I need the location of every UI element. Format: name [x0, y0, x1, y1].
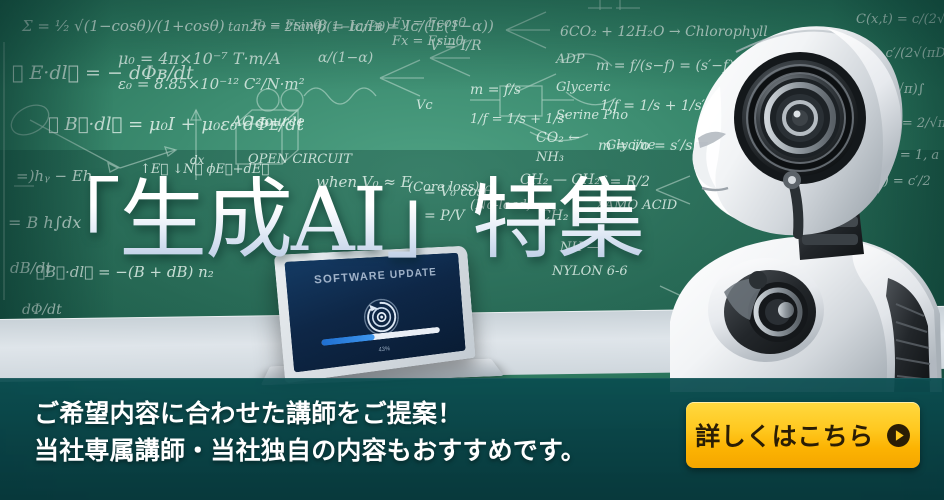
bottom-cta-bar: ご希望内容に合わせた講師をご提案！ 当社専属講師・当社独自の内容もおすすめです。… [0, 378, 944, 500]
humanoid-robot-illustration [650, 0, 944, 392]
play-circle-icon [886, 423, 911, 448]
bottom-bar-copy: ご希望内容に合わせた講師をご提案！ 当社専属講師・当社独自の内容もおすすめです。 [34, 396, 586, 470]
bottom-bar-copy-line-1: ご希望内容に合わせた講師をご提案！ [34, 396, 586, 433]
details-button-label: 詳しくはこちら [695, 417, 874, 453]
page-title: 「生成AI」特集 [33, 176, 643, 264]
generative-ai-feature-banner[interactable]: Σ = ⅟₂ √(1−cosθ)/(1+cosθ)tan2θ = 2tanθ/(… [0, 0, 944, 500]
bottom-bar-copy-line-2: 当社専属講師・当社独自の内容もおすすめです。 [34, 433, 586, 470]
details-button[interactable]: 詳しくはこちら [686, 402, 920, 468]
